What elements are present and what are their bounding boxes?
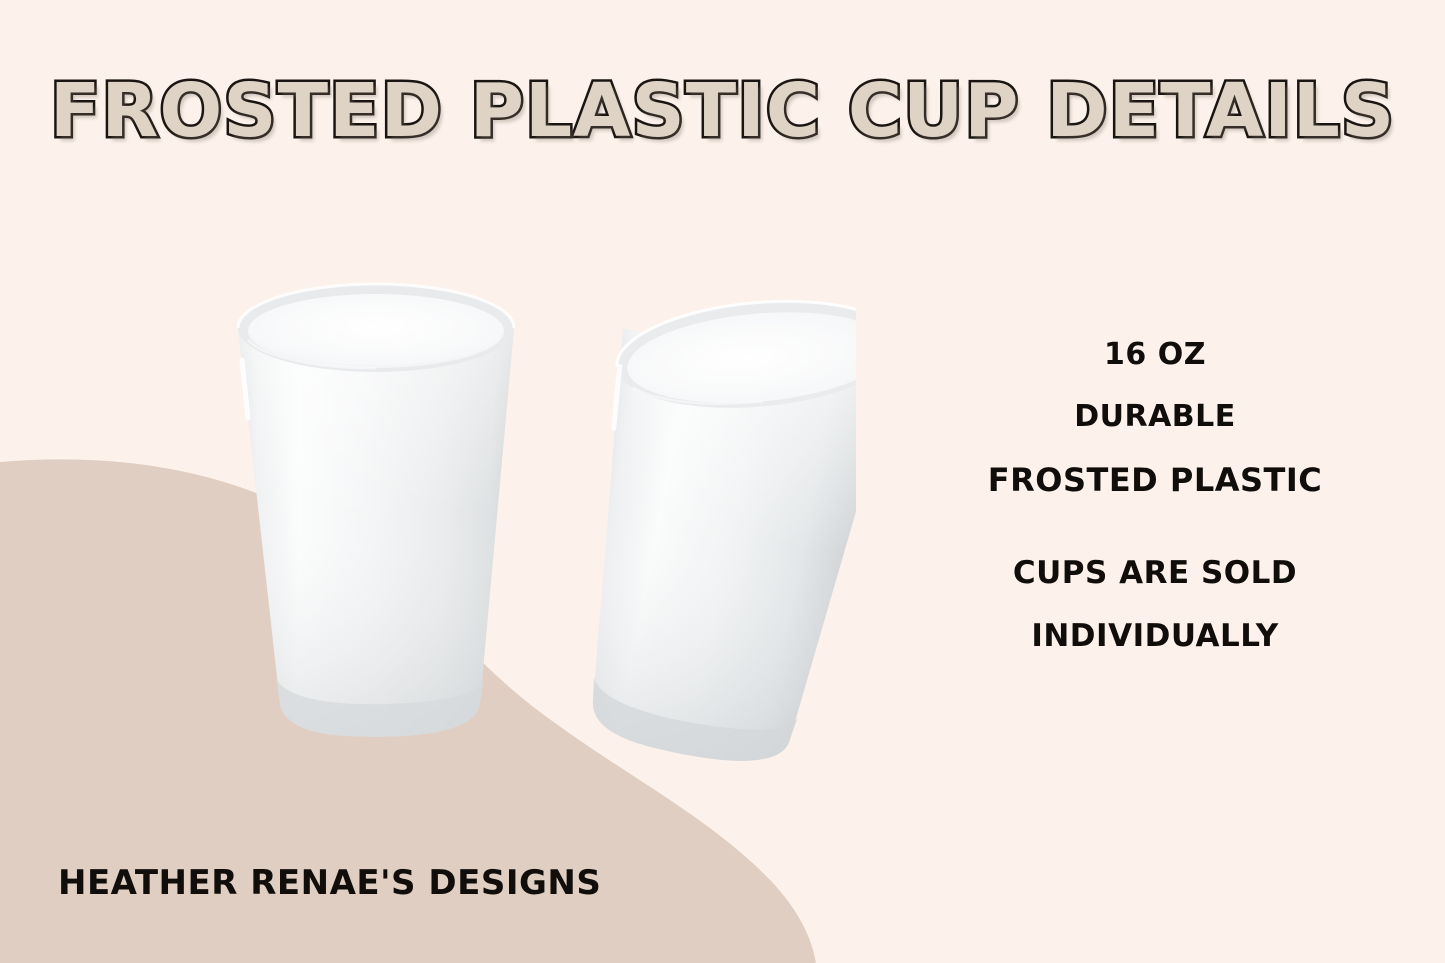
brand-name: HEATHER RENAE'S DESIGNS bbox=[58, 863, 601, 903]
page-title: FROSTED PLASTIC CUP DETAILS bbox=[0, 74, 1445, 148]
info-line-individually: INDIVIDUALLY bbox=[950, 621, 1360, 652]
cup-right bbox=[533, 268, 856, 768]
info-line-material: FROSTED PLASTIC bbox=[950, 464, 1360, 496]
info-line-durable: DURABLE bbox=[950, 402, 1360, 432]
info-line-sold: CUPS ARE SOLD bbox=[950, 558, 1360, 589]
frosted-cups-illustration bbox=[196, 268, 856, 768]
info-line-size: 16 OZ bbox=[950, 340, 1360, 370]
cup-left bbox=[238, 284, 514, 737]
product-detail-graphic: FROSTED PLASTIC CUP DETAILS bbox=[0, 0, 1445, 963]
product-info-block: 16 OZ DURABLE FROSTED PLASTIC CUPS ARE S… bbox=[950, 340, 1360, 652]
